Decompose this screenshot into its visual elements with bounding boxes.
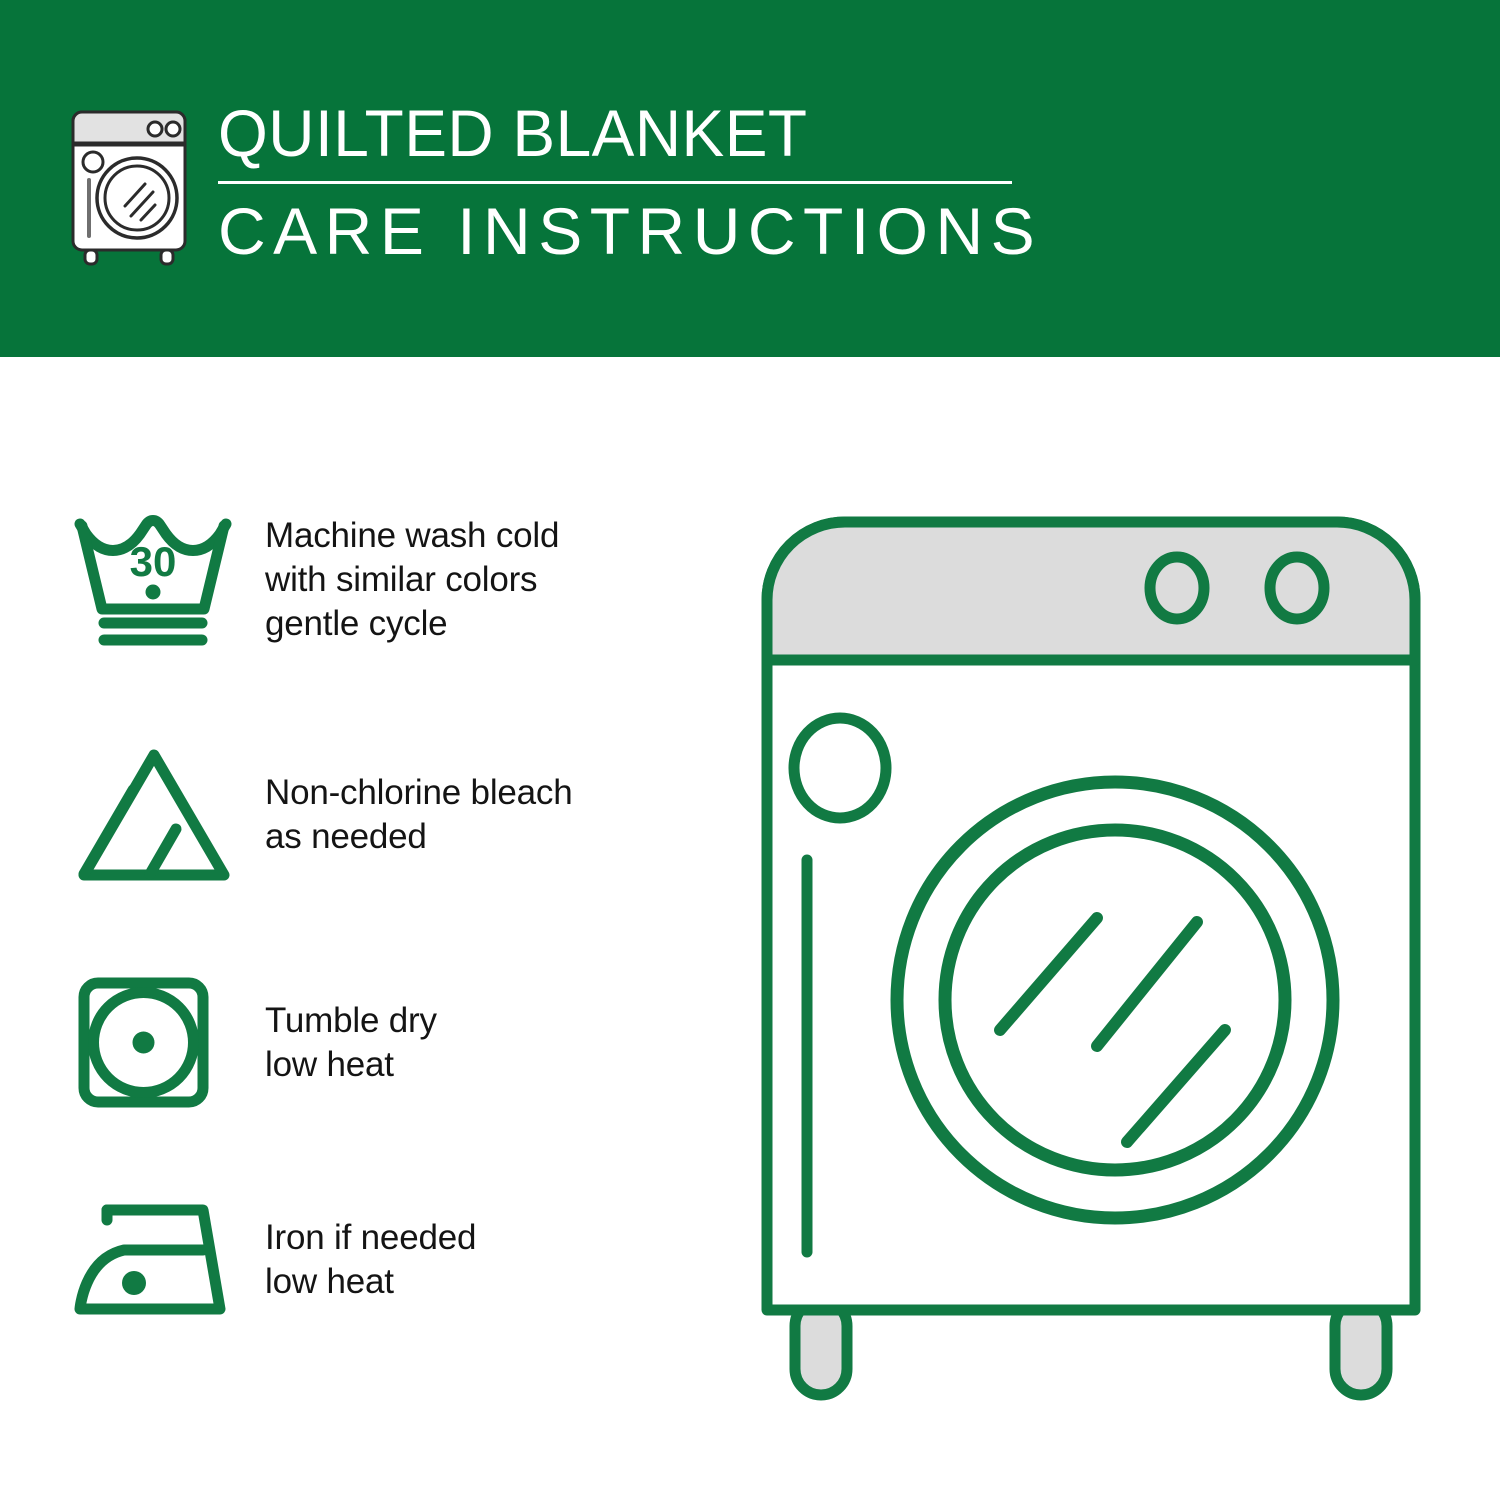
care-row-iron: Iron if needed low heat	[72, 1197, 476, 1322]
machine-wash-30-icon: 30	[72, 512, 247, 647]
care-row-bleach: Non-chlorine bleach as needed	[72, 745, 573, 885]
front-load-washing-machine-illustration	[745, 490, 1455, 1420]
header-title-block: QUILTED BLANKET CARE INSTRUCTIONS	[218, 98, 1038, 267]
non-chlorine-bleach-icon	[72, 745, 247, 885]
care-instructions-list: 30 Machine wash cold with similar colors…	[0, 357, 760, 1500]
header-banner: QUILTED BLANKET CARE INSTRUCTIONS	[0, 0, 1500, 357]
care-text-tumble-dry: Tumble dry low heat	[265, 999, 437, 1087]
page-title-secondary: CARE INSTRUCTIONS	[218, 195, 1038, 267]
title-divider	[218, 181, 1012, 184]
care-text-iron: Iron if needed low heat	[265, 1216, 476, 1304]
machine-control-panel	[767, 522, 1415, 660]
care-instructions-page: QUILTED BLANKET CARE INSTRUCTIONS 30	[0, 0, 1500, 1500]
care-text-bleach: Non-chlorine bleach as needed	[265, 771, 573, 859]
care-row-tumble-dry: Tumble dry low heat	[72, 975, 437, 1110]
wash-temperature-label: 30	[130, 538, 177, 585]
iron-low-heat-icon	[72, 1197, 247, 1322]
care-text-machine-wash: Machine wash cold with similar colors ge…	[265, 514, 559, 646]
page-title-primary: QUILTED BLANKET	[218, 98, 1013, 168]
care-row-machine-wash: 30 Machine wash cold with similar colors…	[72, 512, 559, 647]
tumble-dry-low-icon	[72, 975, 247, 1110]
washing-machine-icon	[63, 104, 195, 268]
